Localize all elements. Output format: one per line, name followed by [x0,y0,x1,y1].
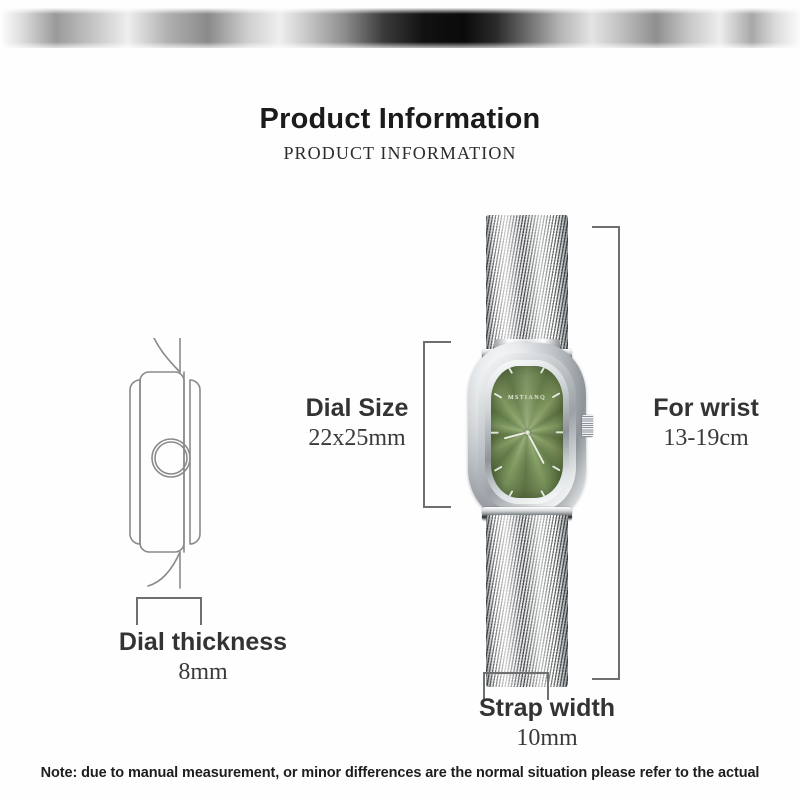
hour-marker-3 [556,431,563,433]
strap-curve-bottom [148,552,180,586]
dial-thickness-bracket [136,597,202,625]
strap-gloss-upper [486,215,568,357]
banner-bottom-fade [0,42,800,50]
spec-dial-size: Dial Size 22x25mm [282,394,432,453]
spec-strap-width-label: Strap width [432,694,662,723]
spec-dial-size-value: 22x25mm [282,424,432,453]
strap-curve-top [154,338,180,372]
measurement-note: Note: due to manual measurement, or mino… [0,765,800,781]
hour-marker-9 [491,431,498,433]
watch-dial: MSTIANQ [491,366,563,498]
case-band-left [130,380,140,544]
watch-case: MSTIANQ [468,343,586,521]
page-subtitle: PRODUCT INFORMATION [0,143,800,164]
page-title: Product Information [0,103,800,136]
spec-dial-thickness: Dial thickness 8mm [88,628,318,687]
spec-for-wrist-value: 13-19cm [622,424,790,453]
banner-top-fade [0,8,800,14]
crown-inner-circle [155,442,187,474]
strap-gloss-lower [486,515,568,687]
watch-side-view-outline [118,338,234,598]
for-wrist-bracket [592,226,620,680]
spec-dial-thickness-value: 8mm [88,658,318,687]
spec-strap-width: Strap width 10mm [432,694,662,753]
spec-for-wrist-label: For wrist [622,394,790,423]
case-body [140,372,184,552]
spec-dial-size-label: Dial Size [282,394,432,423]
case-band-right [190,380,200,544]
center-pin [525,430,530,435]
spec-dial-thickness-label: Dial thickness [88,628,318,657]
spec-for-wrist: For wrist 13-19cm [622,394,790,453]
spec-strap-width-value: 10mm [432,724,662,753]
strap-upper [486,215,568,357]
product-info-page: Product Information PRODUCT INFORMATION [0,0,800,800]
watch-product-image: MSTIANQ [460,215,595,685]
strap-lower [486,515,568,687]
